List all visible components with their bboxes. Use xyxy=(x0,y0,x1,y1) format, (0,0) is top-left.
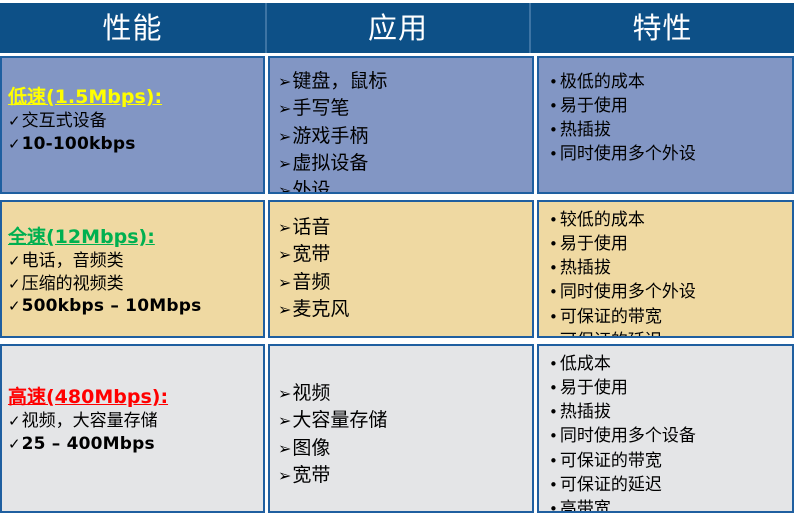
list-item-label: 同时使用多个外设 xyxy=(560,142,696,166)
list-item-label: 大容量存储 xyxy=(292,407,387,434)
list-item: • 热插拔 xyxy=(549,256,788,280)
applications-cell-full-speed: ➢ 话音 ➢ 宽带 ➢ 音频 ➢ 麦克风 xyxy=(268,200,534,338)
list-item: ➢ 外设 xyxy=(278,177,528,194)
list-item-label: 高带宽 xyxy=(560,497,611,513)
spec-item: ✓ 10-100kbps xyxy=(8,133,259,155)
application-list: ➢ 视频 ➢ 大容量存储 ➢ 图像 ➢ 宽带 xyxy=(278,380,528,489)
list-item-label: 图像 xyxy=(292,435,330,462)
table-header-row: 性能 应用 特性 xyxy=(0,3,794,53)
list-item-label: 易于使用 xyxy=(560,232,628,256)
list-item-label: 手写笔 xyxy=(292,95,349,122)
list-item-label: 宽带 xyxy=(292,241,330,268)
spec-block: 高速(480Mbps): ✓ 视频，大容量存储 ✓ 25 – 400Mbps xyxy=(8,386,259,455)
list-item-label: 音频 xyxy=(292,269,330,296)
list-item: • 同时使用多个设备 xyxy=(549,424,788,448)
list-item-label: 麦克风 xyxy=(292,296,349,323)
list-item-label: 话音 xyxy=(292,214,330,241)
bullet-icon: • xyxy=(549,96,558,117)
list-item: • 同时使用多个外设 xyxy=(549,280,788,304)
check-icon: ✓ xyxy=(8,252,21,272)
spec-item: ✓ 交互式设备 xyxy=(8,110,259,132)
list-item: • 可保证的延迟 xyxy=(549,329,788,338)
spec-item-label: 25 – 400Mbps xyxy=(22,433,155,455)
list-item: • 热插拔 xyxy=(549,118,788,142)
spec-title-full-speed: 全速(12Mbps): xyxy=(8,226,259,248)
list-item: ➢ 虚拟设备 xyxy=(278,150,528,177)
spec-cell-low-speed: 低速(1.5Mbps): ✓ 交互式设备 ✓ 10-100kbps xyxy=(0,56,265,194)
list-item-label: 易于使用 xyxy=(560,376,628,400)
list-item-label: 易于使用 xyxy=(560,94,628,118)
list-item: • 可保证的带宽 xyxy=(549,449,788,473)
spec-item: ✓ 压缩的视频类 xyxy=(8,273,259,295)
list-item-label: 同时使用多个设备 xyxy=(560,424,696,448)
list-item-label: 低成本 xyxy=(560,352,611,376)
application-list: ➢ 话音 ➢ 宽带 ➢ 音频 ➢ 麦克风 xyxy=(278,214,528,323)
spec-item: ✓ 视频，大容量存储 xyxy=(8,410,259,432)
list-item: • 同时使用多个外设 xyxy=(549,142,788,166)
list-item-label: 可保证的延迟 xyxy=(560,329,662,338)
applications-cell-high-speed: ➢ 视频 ➢ 大容量存储 ➢ 图像 ➢ 宽带 xyxy=(268,344,534,513)
list-item: • 易于使用 xyxy=(549,376,788,400)
spec-title-high-speed: 高速(480Mbps): xyxy=(8,386,259,408)
table-row: 低速(1.5Mbps): ✓ 交互式设备 ✓ 10-100kbps ➢ 键盘，鼠… xyxy=(0,56,794,194)
check-icon: ✓ xyxy=(8,275,21,295)
arrow-bullet-icon: ➢ xyxy=(278,437,291,460)
check-icon: ✓ xyxy=(8,435,21,455)
list-item-label: 宽带 xyxy=(292,462,330,489)
list-item-label: 键盘，鼠标 xyxy=(292,68,387,95)
list-item: ➢ 游戏手柄 xyxy=(278,123,528,150)
header-cell-applications: 应用 xyxy=(265,3,531,53)
check-icon: ✓ xyxy=(8,112,21,132)
list-item-label: 虚拟设备 xyxy=(292,150,368,177)
applications-cell-low-speed: ➢ 键盘，鼠标 ➢ 手写笔 ➢ 游戏手柄 ➢ 虚拟设备 ➢ 外设 xyxy=(268,56,534,194)
list-item: • 热插拔 xyxy=(549,400,788,424)
list-item: ➢ 音频 xyxy=(278,269,528,296)
bullet-icon: • xyxy=(549,426,558,447)
bullet-icon: • xyxy=(549,499,558,513)
arrow-bullet-icon: ➢ xyxy=(278,125,291,148)
application-list: ➢ 键盘，鼠标 ➢ 手写笔 ➢ 游戏手柄 ➢ 虚拟设备 ➢ 外设 xyxy=(278,68,528,194)
arrow-bullet-icon: ➢ xyxy=(278,70,291,93)
list-item: • 易于使用 xyxy=(549,232,788,256)
list-item-label: 极低的成本 xyxy=(560,70,645,94)
list-item: • 较低的成本 xyxy=(549,208,788,232)
table-row: 全速(12Mbps): ✓ 电话，音频类 ✓ 压缩的视频类 ✓ 500kbps … xyxy=(0,200,794,338)
list-item: ➢ 宽带 xyxy=(278,462,528,489)
list-item: ➢ 宽带 xyxy=(278,241,528,268)
bullet-icon: • xyxy=(549,258,558,279)
arrow-bullet-icon: ➢ xyxy=(278,216,291,239)
header-label-performance: 性能 xyxy=(102,14,162,43)
header-cell-features: 特性 xyxy=(531,3,794,53)
list-item: • 高带宽 xyxy=(549,497,788,513)
bullet-icon: • xyxy=(549,475,558,496)
list-item-label: 较低的成本 xyxy=(560,208,645,232)
arrow-bullet-icon: ➢ xyxy=(278,243,291,266)
list-item: ➢ 话音 xyxy=(278,214,528,241)
spec-item: ✓ 25 – 400Mbps xyxy=(8,433,259,455)
arrow-bullet-icon: ➢ xyxy=(278,152,291,175)
list-item: • 低成本 xyxy=(549,352,788,376)
list-item-label: 外设 xyxy=(292,177,330,194)
list-item: ➢ 麦克风 xyxy=(278,296,528,323)
spec-cell-high-speed: 高速(480Mbps): ✓ 视频，大容量存储 ✓ 25 – 400Mbps xyxy=(0,344,265,513)
spec-item: ✓ 电话，音频类 xyxy=(8,250,259,272)
bullet-icon: • xyxy=(549,120,558,141)
arrow-bullet-icon: ➢ xyxy=(278,382,291,405)
list-item: • 易于使用 xyxy=(549,94,788,118)
feature-list: • 极低的成本 • 易于使用 • 热插拔 • 同时使用多个外设 xyxy=(549,70,788,167)
bullet-icon: • xyxy=(549,402,558,423)
arrow-bullet-icon: ➢ xyxy=(278,97,291,120)
spec-block: 低速(1.5Mbps): ✓ 交互式设备 ✓ 10-100kbps xyxy=(8,86,259,155)
list-item-label: 可保证的带宽 xyxy=(560,305,662,329)
spec-item-label: 压缩的视频类 xyxy=(22,273,124,295)
spec-item-label: 500kbps – 10Mbps xyxy=(22,295,202,317)
spec-title-low-speed: 低速(1.5Mbps): xyxy=(8,86,259,108)
list-item: ➢ 图像 xyxy=(278,435,528,462)
list-item: • 可保证的延迟 xyxy=(549,473,788,497)
spec-item-label: 10-100kbps xyxy=(22,133,136,155)
list-item-label: 可保证的带宽 xyxy=(560,449,662,473)
spec-item: ✓ 500kbps – 10Mbps xyxy=(8,295,259,317)
bullet-icon: • xyxy=(549,72,558,93)
bullet-icon: • xyxy=(549,354,558,375)
list-item-label: 游戏手柄 xyxy=(292,123,368,150)
list-item: ➢ 视频 xyxy=(278,380,528,407)
header-label-applications: 应用 xyxy=(368,14,428,43)
table-row: 高速(480Mbps): ✓ 视频，大容量存储 ✓ 25 – 400Mbps ➢… xyxy=(0,344,794,513)
arrow-bullet-icon: ➢ xyxy=(278,298,291,321)
spec-item-label: 视频，大容量存储 xyxy=(22,410,158,432)
header-label-features: 特性 xyxy=(632,14,692,43)
list-item-label: 视频 xyxy=(292,380,330,407)
check-icon: ✓ xyxy=(8,135,21,155)
arrow-bullet-icon: ➢ xyxy=(278,409,291,432)
check-icon: ✓ xyxy=(8,297,21,317)
bullet-icon: • xyxy=(549,331,558,338)
list-item-label: 热插拔 xyxy=(560,256,611,280)
arrow-bullet-icon: ➢ xyxy=(278,179,291,194)
spec-item-label: 电话，音频类 xyxy=(22,250,124,272)
spec-item-label: 交互式设备 xyxy=(22,110,107,132)
list-item: ➢ 大容量存储 xyxy=(278,407,528,434)
features-cell-full-speed: • 较低的成本 • 易于使用 • 热插拔 • 同时使用多个外设 • 可保证的 xyxy=(537,200,794,338)
check-icon: ✓ xyxy=(8,412,21,432)
list-item-label: 可保证的延迟 xyxy=(560,473,662,497)
features-cell-high-speed: • 低成本 • 易于使用 • 热插拔 • 同时使用多个设备 • 可保证的带宽 xyxy=(537,344,794,513)
features-cell-low-speed: • 极低的成本 • 易于使用 • 热插拔 • 同时使用多个外设 xyxy=(537,56,794,194)
bullet-icon: • xyxy=(549,144,558,165)
bullet-icon: • xyxy=(549,378,558,399)
arrow-bullet-icon: ➢ xyxy=(278,464,291,487)
list-item: • 可保证的带宽 xyxy=(549,305,788,329)
feature-list: • 较低的成本 • 易于使用 • 热插拔 • 同时使用多个外设 • 可保证的 xyxy=(549,208,788,338)
list-item-label: 热插拔 xyxy=(560,400,611,424)
bullet-icon: • xyxy=(549,451,558,472)
list-item-label: 同时使用多个外设 xyxy=(560,280,696,304)
usb-speed-comparison-table: 性能 应用 特性 低速(1.5Mbps): ✓ 交互式设备 ✓ 10-100kb… xyxy=(0,0,794,513)
bullet-icon: • xyxy=(549,234,558,255)
list-item-label: 热插拔 xyxy=(560,118,611,142)
list-item: ➢ 键盘，鼠标 xyxy=(278,68,528,95)
bullet-icon: • xyxy=(549,307,558,328)
list-item: ➢ 手写笔 xyxy=(278,95,528,122)
bullet-icon: • xyxy=(549,210,558,231)
list-item: • 极低的成本 xyxy=(549,70,788,94)
spec-block: 全速(12Mbps): ✓ 电话，音频类 ✓ 压缩的视频类 ✓ 500kbps … xyxy=(8,226,259,317)
header-cell-performance: 性能 xyxy=(0,3,265,53)
spec-cell-full-speed: 全速(12Mbps): ✓ 电话，音频类 ✓ 压缩的视频类 ✓ 500kbps … xyxy=(0,200,265,338)
bullet-icon: • xyxy=(549,282,558,303)
feature-list: • 低成本 • 易于使用 • 热插拔 • 同时使用多个设备 • 可保证的带宽 xyxy=(549,352,788,513)
arrow-bullet-icon: ➢ xyxy=(278,271,291,294)
